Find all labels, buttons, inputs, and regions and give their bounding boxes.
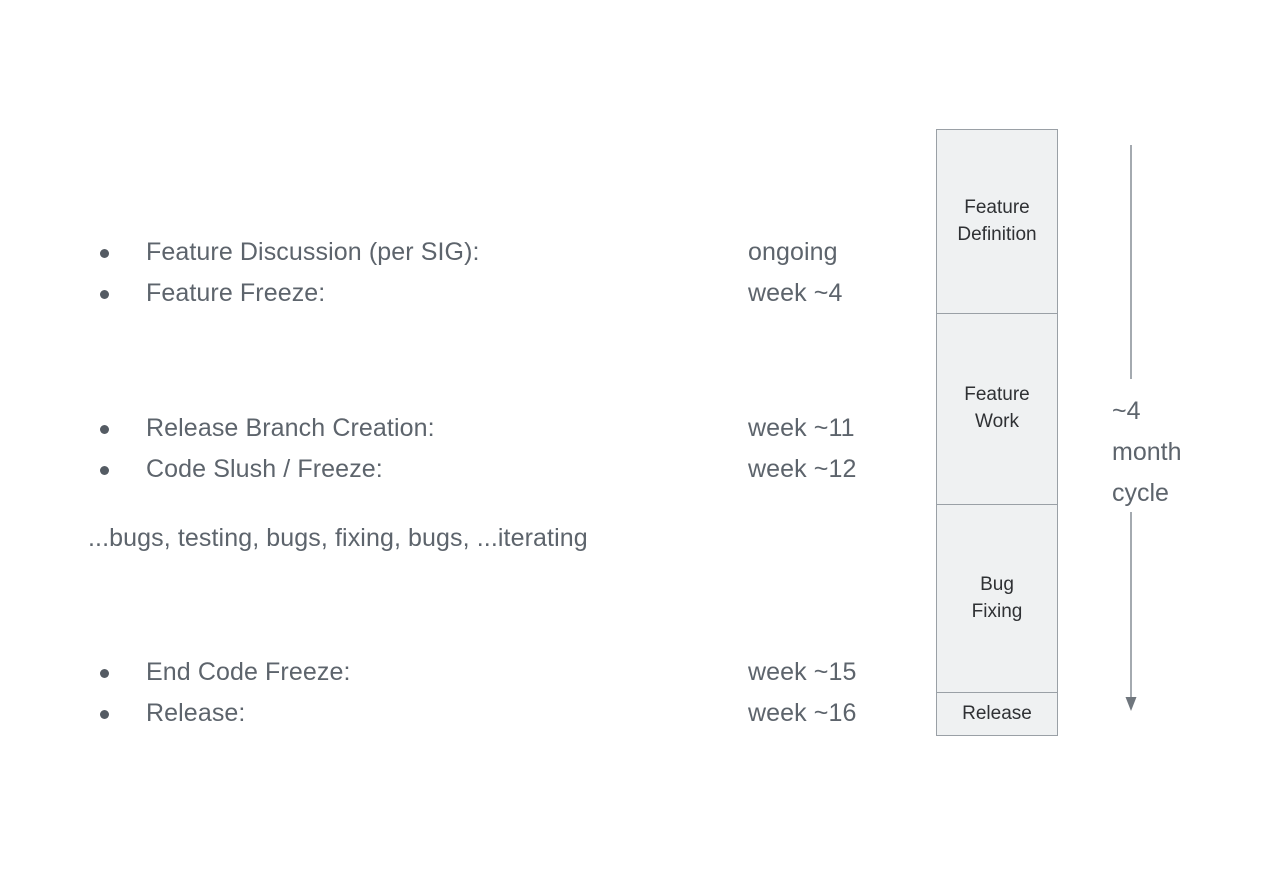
phase-label: Release xyxy=(962,701,1032,728)
milestone-label: Release Branch Creation: xyxy=(146,408,435,449)
bullet-dot-icon xyxy=(100,710,109,719)
phase-cell-feature-definition: Feature Definition xyxy=(937,130,1057,314)
phase-cell-release: Release xyxy=(937,693,1057,735)
milestone-value: week ~15 xyxy=(748,652,857,693)
milestone-label: End Code Freeze: xyxy=(146,652,351,693)
milestone-row: Release: week ~16 xyxy=(88,693,898,734)
milestone-row: Feature Freeze: week ~4 xyxy=(88,273,898,314)
milestone-row: End Code Freeze: week ~15 xyxy=(88,652,898,693)
phase-label: Bug Fixing xyxy=(972,572,1023,625)
phase-cell-bug-fixing: Bug Fixing xyxy=(937,505,1057,693)
milestone-value: week ~16 xyxy=(748,693,857,734)
milestone-label: Code Slush / Freeze: xyxy=(146,449,383,490)
milestone-row: Code Slush / Freeze: week ~12 xyxy=(88,449,898,490)
milestone-value: ongoing xyxy=(748,232,838,273)
phase-cell-feature-work: Feature Work xyxy=(937,314,1057,505)
release-phase-bar: Feature Definition Feature Work Bug Fixi… xyxy=(936,129,1058,736)
iterating-note: ...bugs, testing, bugs, fixing, bugs, ..… xyxy=(88,524,588,553)
milestone-value: week ~12 xyxy=(748,449,857,490)
cycle-annotation: ~4 month cycle xyxy=(1100,129,1230,739)
milestone-value: week ~11 xyxy=(748,408,855,449)
milestone-group: End Code Freeze: week ~15 Release: week … xyxy=(88,652,898,734)
bullet-dot-icon xyxy=(100,466,109,475)
milestone-label: Release: xyxy=(146,693,245,734)
bullet-dot-icon xyxy=(100,290,109,299)
milestone-value: week ~4 xyxy=(748,273,843,314)
milestone-label: Feature Freeze: xyxy=(146,273,325,314)
phase-label: Feature Definition xyxy=(957,195,1036,248)
milestone-row: Release Branch Creation: week ~11 xyxy=(88,408,898,449)
milestone-group: Release Branch Creation: week ~11 Code S… xyxy=(88,408,898,490)
milestone-row: Feature Discussion (per SIG): ongoing xyxy=(88,232,898,273)
milestone-label: Feature Discussion (per SIG): xyxy=(146,232,480,273)
cycle-label: ~4 month cycle xyxy=(1112,391,1230,514)
bullet-dot-icon xyxy=(100,425,109,434)
milestone-group: Feature Discussion (per SIG): ongoing Fe… xyxy=(88,232,898,314)
bullet-dot-icon xyxy=(100,249,109,258)
bullet-dot-icon xyxy=(100,669,109,678)
phase-label: Feature Work xyxy=(964,382,1029,435)
